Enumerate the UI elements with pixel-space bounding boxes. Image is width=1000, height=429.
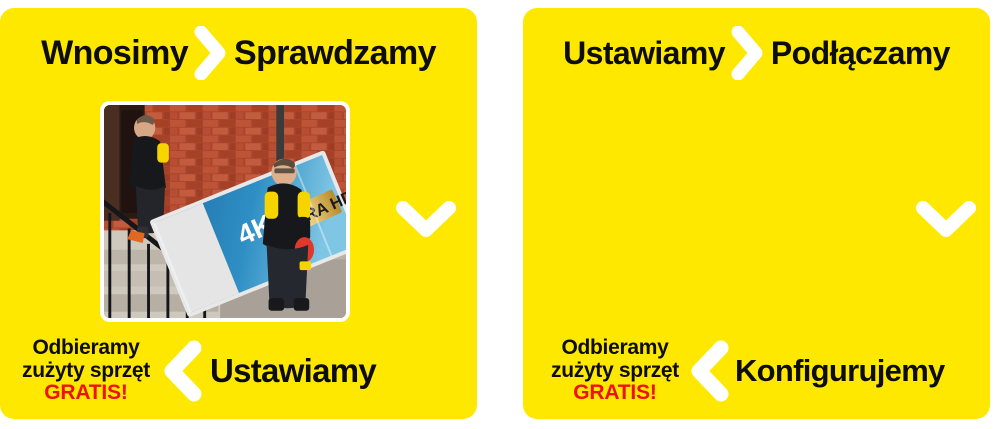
- recycle-line-1: Odbieramy: [551, 337, 679, 360]
- top-steps-row-2: Ustawiamy Podłączamy: [523, 26, 990, 80]
- step-label-ustawiamy-top: Ustawiamy: [563, 37, 725, 69]
- step-label-sprawdzamy: Sprawdzamy: [234, 36, 436, 70]
- service-panel-installation: Ustawiamy Podłączamy: [523, 8, 990, 419]
- delivery-photo: 4K ULTRA HD: [100, 101, 350, 322]
- top-steps-row-1: Wnosimy Sprawdzamy: [0, 26, 477, 80]
- step-label-ustawiamy: Ustawiamy: [210, 352, 376, 390]
- chevron-left-icon: [160, 340, 206, 402]
- service-panel-delivery: Wnosimy Sprawdzamy: [0, 8, 477, 419]
- step-label-konfigurujemy: Konfigurujemy: [735, 353, 945, 389]
- recycle-offer-1: Odbieramy zużyty sprzęt GRATIS!: [10, 337, 150, 405]
- bottom-steps-row-1: Odbieramy zużyty sprzęt GRATIS! Ustawiam…: [0, 337, 477, 405]
- chevron-right-icon: [194, 26, 228, 80]
- recycle-line-2: zużyty sprzęt: [22, 360, 150, 383]
- step-label-podlaczamy: Podłączamy: [771, 37, 950, 69]
- chevron-down-icon: [395, 200, 457, 240]
- bottom-steps-row-2: Odbieramy zużyty sprzęt GRATIS! Konfigur…: [523, 337, 990, 405]
- step-label-wnosimy: Wnosimy: [41, 36, 188, 70]
- chevron-left-icon: [687, 340, 733, 402]
- recycle-line-1: Odbieramy: [22, 337, 150, 360]
- recycle-free-badge: GRATIS!: [551, 382, 679, 405]
- delivery-photo-illustration: 4K ULTRA HD: [104, 105, 346, 318]
- service-steps-banner: Wnosimy Sprawdzamy: [0, 0, 1000, 429]
- recycle-offer-2: Odbieramy zużyty sprzęt GRATIS!: [533, 337, 679, 405]
- recycle-line-2: zużyty sprzęt: [551, 360, 679, 383]
- chevron-right-icon: [731, 26, 765, 80]
- recycle-free-badge: GRATIS!: [22, 382, 150, 405]
- chevron-down-icon: [915, 200, 977, 240]
